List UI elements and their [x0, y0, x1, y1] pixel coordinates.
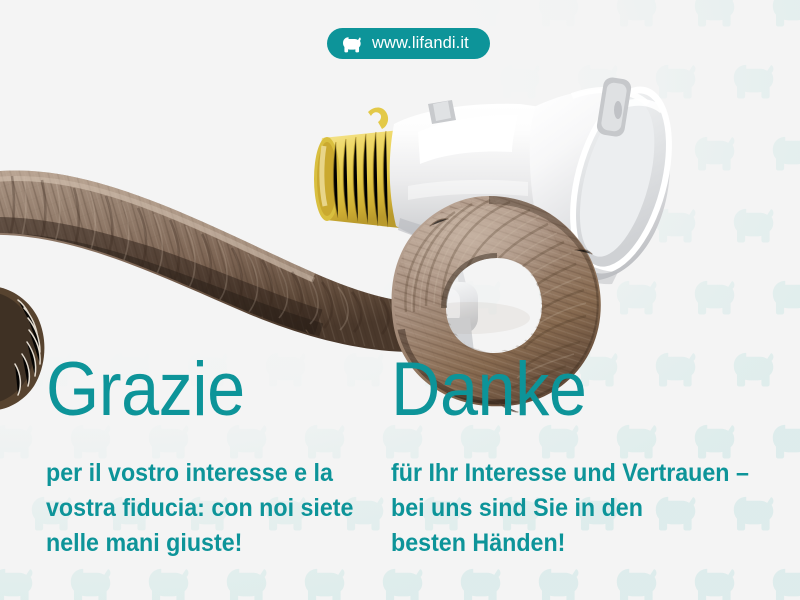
watermark-elephant-icon — [0, 566, 38, 600]
watermark-elephant-icon — [68, 278, 116, 316]
watermark-elephant-icon — [692, 0, 740, 28]
watermark-elephant-icon — [692, 134, 740, 172]
watermark-elephant-icon — [419, 62, 467, 100]
watermark-elephant-icon — [458, 278, 506, 316]
watermark-elephant-icon — [185, 62, 233, 100]
column-italian: Grazie per il vostro interesse e la vost… — [46, 352, 376, 561]
watermark-elephant-icon — [68, 0, 116, 28]
watermark-elephant-icon — [0, 422, 38, 460]
watermark-elephant-icon — [224, 0, 272, 28]
body-line: vostra fiducia: con noi siete — [46, 491, 353, 526]
watermark-elephant-icon — [536, 0, 584, 28]
watermark-elephant-icon — [29, 62, 77, 100]
watermark-elephant-icon — [614, 0, 662, 28]
watermark-elephant-icon — [341, 62, 389, 100]
body-line: für Ihr Interesse und Vertrauen – — [391, 456, 726, 491]
watermark-elephant-icon — [731, 62, 779, 100]
watermark-elephant-icon — [380, 0, 428, 28]
watermark-elephant-icon — [536, 278, 584, 316]
watermark-elephant-icon — [380, 566, 428, 600]
watermark-elephant-icon — [770, 278, 800, 316]
watermark-elephant-icon — [653, 62, 701, 100]
watermark-elephant-icon — [380, 278, 428, 316]
watermark-elephant-icon — [458, 566, 506, 600]
watermark-elephant-icon — [302, 566, 350, 600]
column-german: Danke für Ihr Interesse und Vertrauen – … — [391, 352, 751, 561]
watermark-elephant-icon — [146, 278, 194, 316]
watermark-elephant-icon — [0, 134, 38, 172]
elephant-trunk — [0, 150, 440, 370]
headline-german: Danke — [391, 352, 715, 428]
elephant-icon — [342, 36, 363, 53]
watermark-elephant-icon — [770, 134, 800, 172]
watermark-elephant-icon — [458, 0, 506, 28]
elephant-ear-hair — [0, 286, 44, 410]
watermark-elephant-icon — [263, 62, 311, 100]
watermark-elephant-icon — [653, 206, 701, 244]
watermark-elephant-icon — [458, 134, 506, 172]
watermark-elephant-icon — [614, 134, 662, 172]
watermark-elephant-icon — [731, 206, 779, 244]
megaphone-handle — [406, 180, 478, 356]
body-line: bei uns sind Sie in den — [391, 491, 726, 526]
watermark-elephant-icon — [107, 62, 155, 100]
watermark-elephant-icon — [692, 278, 740, 316]
megaphone-strap-bracket — [596, 76, 633, 138]
watermark-elephant-icon — [146, 0, 194, 28]
watermark-elephant-icon — [224, 566, 272, 600]
watermark-elephant-icon — [146, 566, 194, 600]
watermark-elephant-icon — [224, 278, 272, 316]
body-german: für Ihr Interesse und Vertrauen – bei un… — [391, 456, 726, 561]
watermark-elephant-icon — [614, 566, 662, 600]
watermark-elephant-icon — [68, 134, 116, 172]
watermark-elephant-icon — [302, 134, 350, 172]
poster-canvas: www.lifandi.it Grazie per il vostro inte… — [0, 0, 800, 600]
megaphone-cone — [530, 75, 691, 284]
watermark-elephant-icon — [614, 278, 662, 316]
website-url-text: www.lifandi.it — [372, 35, 469, 52]
headline-italian: Grazie — [46, 352, 343, 428]
body-line: per il vostro interesse e la — [46, 456, 353, 491]
megaphone-yellow-band — [314, 108, 400, 229]
watermark-elephant-icon — [692, 566, 740, 600]
watermark-elephant-icon — [302, 0, 350, 28]
watermark-elephant-icon — [0, 278, 38, 316]
website-url-badge[interactable]: www.lifandi.it — [327, 28, 490, 59]
watermark-elephant-icon — [224, 134, 272, 172]
watermark-elephant-icon — [302, 278, 350, 316]
watermark-elephant-icon — [263, 206, 311, 244]
watermark-elephant-icon — [419, 206, 467, 244]
watermark-elephant-icon — [770, 422, 800, 460]
watermark-elephant-icon — [497, 206, 545, 244]
watermark-elephant-icon — [770, 0, 800, 28]
body-line: nelle mani giuste! — [46, 526, 353, 561]
watermark-elephant-icon — [107, 206, 155, 244]
watermark-elephant-icon — [497, 62, 545, 100]
body-italian: per il vostro interesse e la vostra fidu… — [46, 456, 353, 561]
watermark-elephant-icon — [0, 0, 38, 28]
watermark-elephant-icon — [29, 206, 77, 244]
watermark-elephant-icon — [341, 206, 389, 244]
watermark-elephant-icon — [380, 134, 428, 172]
watermark-elephant-icon — [185, 206, 233, 244]
watermark-elephant-icon — [536, 134, 584, 172]
watermark-elephant-icon — [575, 206, 623, 244]
watermark-elephant-icon — [536, 566, 584, 600]
watermark-elephant-icon — [770, 566, 800, 600]
watermark-elephant-icon — [575, 62, 623, 100]
body-line: besten Händen! — [391, 526, 726, 561]
watermark-elephant-icon — [146, 134, 194, 172]
megaphone-body — [390, 100, 556, 254]
watermark-elephant-icon — [68, 566, 116, 600]
